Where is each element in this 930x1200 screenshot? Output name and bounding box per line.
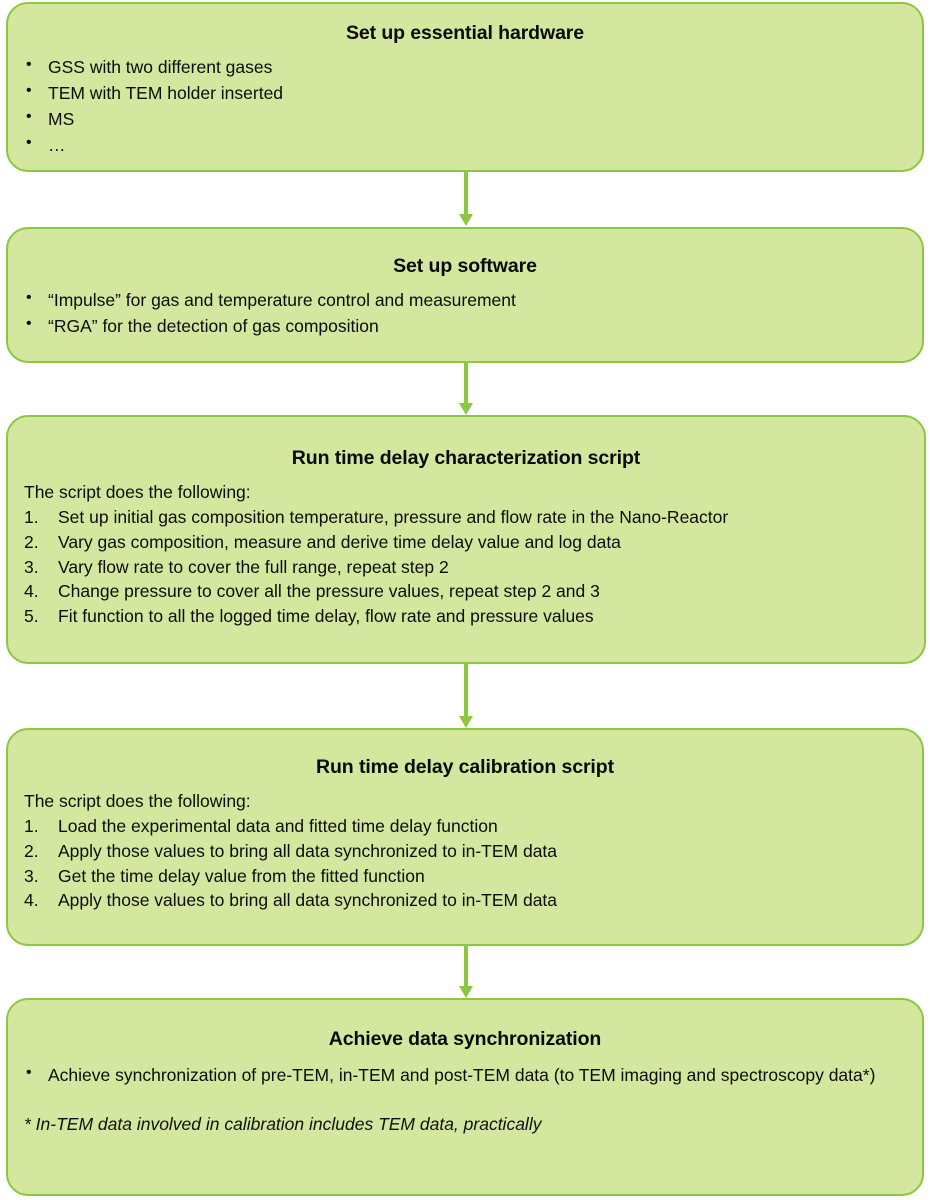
list-item: Apply those values to bring all data syn… [24, 839, 912, 864]
list-item-text: “Impulse” for gas and temperature contro… [48, 290, 516, 310]
list-item-text: Vary flow rate to cover the full range, … [58, 557, 449, 577]
list-item-text: Change pressure to cover all the pressur… [58, 581, 600, 601]
node-body: “Impulse” for gas and temperature contro… [8, 288, 922, 339]
list-item-text: … [48, 135, 66, 155]
list-item: “RGA” for the detection of gas compositi… [20, 314, 908, 339]
bullet-list: GSS with two different gases TEM with TE… [20, 55, 908, 157]
flow-node-run-time-delay-calibration-script: Run time delay calibration script The sc… [6, 728, 924, 946]
list-item: Get the time delay value from the fitted… [24, 864, 912, 889]
list-item: … [20, 133, 908, 158]
list-item-text: Load the experimental data and fitted ti… [58, 816, 498, 836]
flow-node-set-up-essential-hardware: Set up essential hardware GSS with two d… [6, 2, 924, 172]
list-item: TEM with TEM holder inserted [20, 81, 908, 106]
list-item-text: Set up initial gas composition temperatu… [58, 507, 728, 527]
node-footnote: * In-TEM data involved in calibration in… [8, 1112, 922, 1137]
connector-arrow-down-icon [464, 172, 468, 215]
list-item: Apply those values to bring all data syn… [24, 888, 912, 913]
list-item: Set up initial gas composition temperatu… [24, 505, 914, 530]
list-item-text: Achieve synchronization of pre-TEM, in-T… [48, 1065, 875, 1085]
list-item-text: MS [48, 109, 74, 129]
list-item-text: Fit function to all the logged time dela… [58, 606, 594, 626]
node-title: Run time delay characterization script [8, 447, 924, 470]
bullet-list: “Impulse” for gas and temperature contro… [20, 288, 908, 339]
list-item-text: Get the time delay value from the fitted… [58, 866, 425, 886]
list-item-text: Vary gas composition, measure and derive… [58, 532, 621, 552]
list-item-text: GSS with two different gases [48, 57, 272, 77]
list-item: Vary flow rate to cover the full range, … [24, 555, 914, 580]
numbered-list: Set up initial gas composition temperatu… [24, 505, 914, 629]
list-item: GSS with two different gases [20, 55, 908, 80]
flow-node-run-time-delay-characterization-script: Run time delay characterization script T… [6, 415, 926, 664]
list-item: MS [20, 107, 908, 132]
node-body: The script does the following: Load the … [8, 789, 922, 913]
node-title: Achieve data synchronization [8, 1028, 922, 1051]
list-item-text: Apply those values to bring all data syn… [58, 841, 557, 861]
node-lead-text: The script does the following: [24, 789, 912, 814]
node-title: Run time delay calibration script [8, 756, 922, 779]
numbered-list: Load the experimental data and fitted ti… [24, 814, 912, 913]
list-item: Load the experimental data and fitted ti… [24, 814, 912, 839]
list-item-text: Apply those values to bring all data syn… [58, 890, 557, 910]
node-title: Set up software [8, 255, 922, 278]
node-lead-text: The script does the following: [24, 480, 914, 505]
connector-arrow-down-icon [464, 664, 468, 717]
flow-node-achieve-data-synchronization: Achieve data synchronization Achieve syn… [6, 998, 924, 1196]
node-body: The script does the following: Set up in… [8, 480, 924, 629]
flow-node-set-up-software: Set up software “Impulse” for gas and te… [6, 227, 924, 363]
node-body: GSS with two different gases TEM with TE… [8, 55, 922, 157]
list-item: Achieve synchronization of pre-TEM, in-T… [20, 1063, 908, 1088]
list-item: Vary gas composition, measure and derive… [24, 530, 914, 555]
list-item-text: TEM with TEM holder inserted [48, 83, 283, 103]
list-item: Change pressure to cover all the pressur… [24, 579, 914, 604]
node-title: Set up essential hardware [8, 22, 922, 45]
list-item: Fit function to all the logged time dela… [24, 604, 914, 629]
list-item-text: “RGA” for the detection of gas compositi… [48, 316, 379, 336]
node-body: Achieve synchronization of pre-TEM, in-T… [8, 1063, 922, 1088]
connector-arrow-down-icon [464, 363, 468, 404]
flowchart: Set up essential hardware GSS with two d… [0, 0, 930, 1200]
list-item: “Impulse” for gas and temperature contro… [20, 288, 908, 313]
bullet-list: Achieve synchronization of pre-TEM, in-T… [20, 1063, 908, 1088]
connector-arrow-down-icon [464, 946, 468, 987]
